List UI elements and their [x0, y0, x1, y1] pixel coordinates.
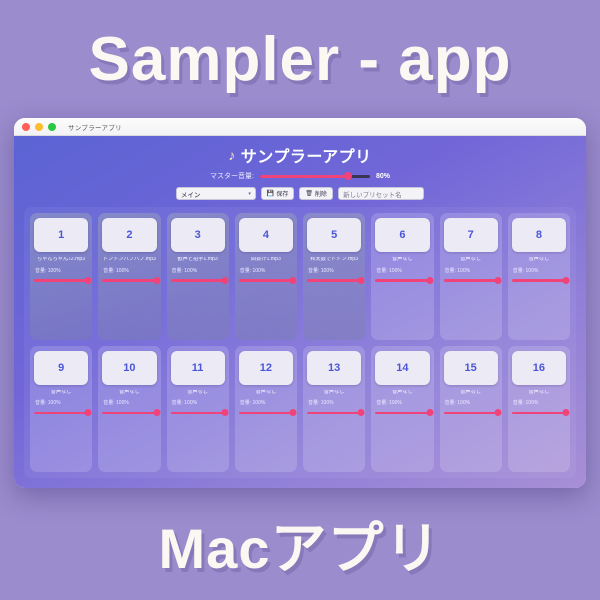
app-body: ♪ サンプラーアプリ マスター音量: 80% メイン ▾ [14, 136, 586, 488]
pad-volume-slider-5[interactable] [307, 277, 361, 284]
pad-slider-knob-9[interactable] [85, 409, 92, 416]
pad-slider-track-4 [239, 279, 293, 282]
page-title: ♪ サンプラーアプリ [228, 143, 371, 167]
pad-volume-label-10: 音量: 100% [102, 399, 129, 406]
pad-volume-label-7: 音量: 100% [444, 267, 471, 274]
pad-6[interactable]: 6音声なし音量: 100% [371, 213, 433, 340]
pad-9[interactable]: 9音声なし音量: 100% [30, 346, 92, 473]
minimize-button[interactable] [35, 123, 43, 131]
promo-canvas: Sampler - app サンプラーアプリ ♪ サンプラーアプリ マスター音量… [0, 0, 600, 600]
pad-file-label-5: 和太鼓でドドン.mp3 [307, 257, 361, 263]
pad-volume-label-11: 音量: 100% [171, 399, 198, 406]
pad-11[interactable]: 11音声なし音量: 100% [167, 346, 229, 473]
pad-file-label-9: 音声なし [34, 390, 88, 396]
preset-select[interactable]: メイン ▾ [176, 187, 256, 200]
pad-volume-slider-11[interactable] [171, 409, 225, 416]
delete-preset-label: 削除 [315, 189, 327, 198]
pad-volume-slider-9[interactable] [34, 409, 88, 416]
pad-slider-knob-10[interactable] [153, 409, 160, 416]
pad-volume-slider-15[interactable] [444, 409, 498, 416]
master-volume-slider[interactable] [260, 171, 370, 181]
pad-slider-track-14 [375, 412, 429, 415]
pad-file-label-1: ちゃんちゃん♪2.mp3 [34, 257, 88, 263]
pad-3[interactable]: 3歓声と拍手1.mp3音量: 100% [167, 213, 229, 340]
master-slider-knob[interactable] [344, 172, 352, 180]
pad-slider-track-10 [102, 412, 156, 415]
trash-icon: 🗑 [305, 190, 313, 197]
music-note-icon: ♪ [228, 148, 236, 162]
pad-slider-track-12 [239, 412, 293, 415]
pad-slider-track-9 [34, 412, 88, 415]
pad-trigger-button-2[interactable]: 2 [102, 218, 156, 252]
pad-slider-track-13 [307, 412, 361, 415]
pad-volume-slider-1[interactable] [34, 277, 88, 284]
pad-15[interactable]: 15音声なし音量: 100% [440, 346, 502, 473]
pad-4[interactable]: 4間抜け1.mp3音量: 100% [235, 213, 297, 340]
pad-slider-knob-1[interactable] [85, 277, 92, 284]
pad-slider-knob-15[interactable] [494, 409, 501, 416]
pad-grid: 1ちゃんちゃん♪2.mp3音量: 100%2ドンドンパフパフ.mp3音量: 10… [24, 207, 576, 478]
pad-file-label-2: ドンドンパフパフ.mp3 [102, 257, 156, 263]
new-preset-input[interactable]: 新しいプリセット名 [338, 187, 424, 200]
window-title: サンプラーアプリ [68, 122, 122, 132]
pad-slider-knob-8[interactable] [563, 277, 570, 284]
pad-slider-track-3 [171, 279, 225, 282]
pad-volume-label-15: 音量: 100% [444, 399, 471, 406]
pad-trigger-button-4[interactable]: 4 [239, 218, 293, 252]
new-preset-placeholder: 新しいプリセット名 [343, 189, 402, 199]
pad-trigger-button-3[interactable]: 3 [171, 218, 225, 252]
pad-file-label-4: 間抜け1.mp3 [239, 257, 293, 263]
app-window: サンプラーアプリ ♪ サンプラーアプリ マスター音量: 80% [14, 118, 586, 488]
pad-16[interactable]: 16音声なし音量: 100% [508, 346, 570, 473]
pad-file-label-3: 歓声と拍手1.mp3 [171, 257, 225, 263]
pad-volume-label-2: 音量: 100% [102, 267, 129, 274]
pad-8[interactable]: 8音声なし音量: 100% [508, 213, 570, 340]
pad-slider-knob-12[interactable] [290, 409, 297, 416]
pad-slider-knob-5[interactable] [358, 277, 365, 284]
pad-volume-label-4: 音量: 100% [239, 267, 266, 274]
pad-file-label-15: 音声なし [444, 390, 498, 396]
pad-volume-slider-8[interactable] [512, 277, 566, 284]
pad-10[interactable]: 10音声なし音量: 100% [98, 346, 160, 473]
pad-7[interactable]: 7音声なし音量: 100% [440, 213, 502, 340]
pad-slider-knob-7[interactable] [494, 277, 501, 284]
pad-1[interactable]: 1ちゃんちゃん♪2.mp3音量: 100% [30, 213, 92, 340]
pad-slider-track-7 [444, 279, 498, 282]
master-volume-label: マスター音量: [210, 171, 254, 181]
window-titlebar: サンプラーアプリ [14, 118, 586, 136]
pad-volume-slider-4[interactable] [239, 277, 293, 284]
pad-file-label-13: 音声なし [307, 390, 361, 396]
pad-trigger-button-8[interactable]: 8 [512, 218, 566, 252]
pad-trigger-button-9[interactable]: 9 [34, 351, 88, 385]
pad-slider-knob-2[interactable] [153, 277, 160, 284]
pad-volume-slider-14[interactable] [375, 409, 429, 416]
zoom-button[interactable] [48, 123, 56, 131]
pad-trigger-button-5[interactable]: 5 [307, 218, 361, 252]
promo-footer: Macアプリ [0, 518, 600, 580]
pad-volume-slider-3[interactable] [171, 277, 225, 284]
pad-file-label-16: 音声なし [512, 390, 566, 396]
save-preset-label: 保存 [276, 189, 288, 198]
promo-headline: Sampler - app [0, 26, 600, 94]
pad-14[interactable]: 14音声なし音量: 100% [371, 346, 433, 473]
pad-slider-knob-14[interactable] [426, 409, 433, 416]
pad-volume-slider-7[interactable] [444, 277, 498, 284]
page-title-text: サンプラーアプリ [241, 143, 372, 167]
pad-volume-label-12: 音量: 100% [239, 399, 266, 406]
pad-slider-knob-6[interactable] [426, 277, 433, 284]
pad-volume-slider-6[interactable] [375, 277, 429, 284]
pad-trigger-button-6[interactable]: 6 [375, 218, 429, 252]
pad-volume-label-14: 音量: 100% [375, 399, 402, 406]
master-volume-row: マスター音量: 80% [24, 171, 576, 181]
close-button[interactable] [22, 123, 30, 131]
pad-12[interactable]: 12音声なし音量: 100% [235, 346, 297, 473]
pad-slider-track-8 [512, 279, 566, 282]
pad-file-label-14: 音声なし [375, 390, 429, 396]
pad-trigger-button-11[interactable]: 11 [171, 351, 225, 385]
pad-volume-slider-16[interactable] [512, 409, 566, 416]
pad-volume-label-13: 音量: 100% [307, 399, 334, 406]
pad-volume-label-1: 音量: 100% [34, 267, 61, 274]
pad-volume-label-16: 音量: 100% [512, 399, 539, 406]
pad-trigger-button-15[interactable]: 15 [444, 351, 498, 385]
pad-volume-slider-2[interactable] [102, 277, 156, 284]
pad-slider-track-16 [512, 412, 566, 415]
preset-select-value: メイン [181, 189, 201, 199]
app-header: ♪ サンプラーアプリ マスター音量: 80% [24, 143, 576, 181]
pad-slider-knob-16[interactable] [563, 409, 570, 416]
pad-slider-track-11 [171, 412, 225, 415]
master-volume-value: 80% [376, 173, 390, 180]
preset-toolbar: メイン ▾ 💾 保存 🗑 削除 新しいプリセット名 [24, 187, 576, 200]
pad-volume-label-5: 音量: 100% [307, 267, 334, 274]
pad-slider-knob-11[interactable] [221, 409, 228, 416]
pad-file-label-12: 音声なし [239, 390, 293, 396]
pad-slider-knob-4[interactable] [290, 277, 297, 284]
pad-slider-knob-3[interactable] [221, 277, 228, 284]
pad-file-label-8: 音声なし [512, 257, 566, 263]
pad-slider-track-6 [375, 279, 429, 282]
pad-volume-label-8: 音量: 100% [512, 267, 539, 274]
master-slider-fill [260, 175, 348, 178]
pad-slider-track-5 [307, 279, 361, 282]
pad-volume-slider-10[interactable] [102, 409, 156, 416]
pad-slider-track-2 [102, 279, 156, 282]
pad-slider-track-1 [34, 279, 88, 282]
pad-volume-slider-12[interactable] [239, 409, 293, 416]
pad-trigger-button-16[interactable]: 16 [512, 351, 566, 385]
delete-preset-button[interactable]: 🗑 削除 [299, 187, 333, 200]
pad-trigger-button-10[interactable]: 10 [102, 351, 156, 385]
pad-volume-label-9: 音量: 100% [34, 399, 61, 406]
pad-trigger-button-1[interactable]: 1 [34, 218, 88, 252]
pad-5[interactable]: 5和太鼓でドドン.mp3音量: 100% [303, 213, 365, 340]
pad-file-label-7: 音声なし [444, 257, 498, 263]
pad-volume-label-3: 音量: 100% [171, 267, 198, 274]
pad-slider-track-15 [444, 412, 498, 415]
pad-file-label-10: 音声なし [102, 390, 156, 396]
pad-file-label-6: 音声なし [375, 257, 429, 263]
pad-volume-slider-13[interactable] [307, 409, 361, 416]
pad-13[interactable]: 13音声なし音量: 100% [303, 346, 365, 473]
pad-2[interactable]: 2ドンドンパフパフ.mp3音量: 100% [98, 213, 160, 340]
chevron-down-icon: ▾ [248, 191, 251, 197]
pad-trigger-button-13[interactable]: 13 [307, 351, 361, 385]
pad-trigger-button-7[interactable]: 7 [444, 218, 498, 252]
save-preset-button[interactable]: 💾 保存 [261, 187, 295, 200]
floppy-disk-icon: 💾 [267, 190, 274, 197]
pad-file-label-11: 音声なし [171, 390, 225, 396]
pad-trigger-button-14[interactable]: 14 [375, 351, 429, 385]
pad-volume-label-6: 音量: 100% [375, 267, 402, 274]
pad-slider-knob-13[interactable] [358, 409, 365, 416]
pad-trigger-button-12[interactable]: 12 [239, 351, 293, 385]
